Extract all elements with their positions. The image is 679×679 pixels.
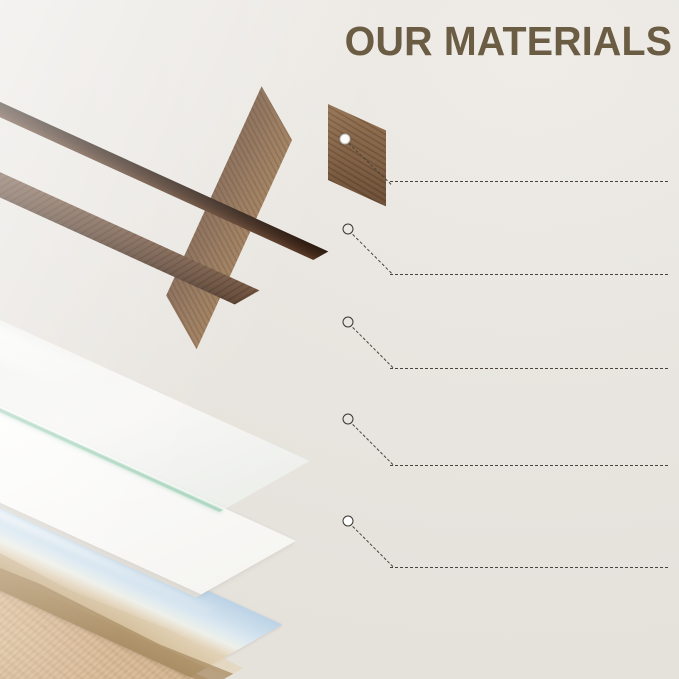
callout-leader-rule-mat bbox=[390, 368, 668, 369]
callout-marker-print[interactable] bbox=[343, 414, 354, 425]
callout-marker-mdf-backing[interactable] bbox=[343, 516, 354, 527]
frame-mitre-end-cap bbox=[328, 104, 386, 206]
callout-marker-plexiglass[interactable] bbox=[343, 224, 354, 235]
layer-walnut-frame bbox=[0, 0, 392, 338]
page-title: OUR MATERIALS bbox=[344, 20, 672, 63]
callout-leader-rule-mdf-backing bbox=[390, 567, 668, 568]
callout-leader-rule-walnut-wood bbox=[390, 181, 668, 182]
callout-leader-rule-plexiglass bbox=[390, 274, 668, 275]
infographic-canvas: OUR MATERIALS USA-Sourced Walnut Wood Sh… bbox=[0, 0, 679, 679]
callout-marker-mat[interactable] bbox=[343, 317, 354, 328]
callout-leader-rule-print bbox=[390, 465, 668, 466]
